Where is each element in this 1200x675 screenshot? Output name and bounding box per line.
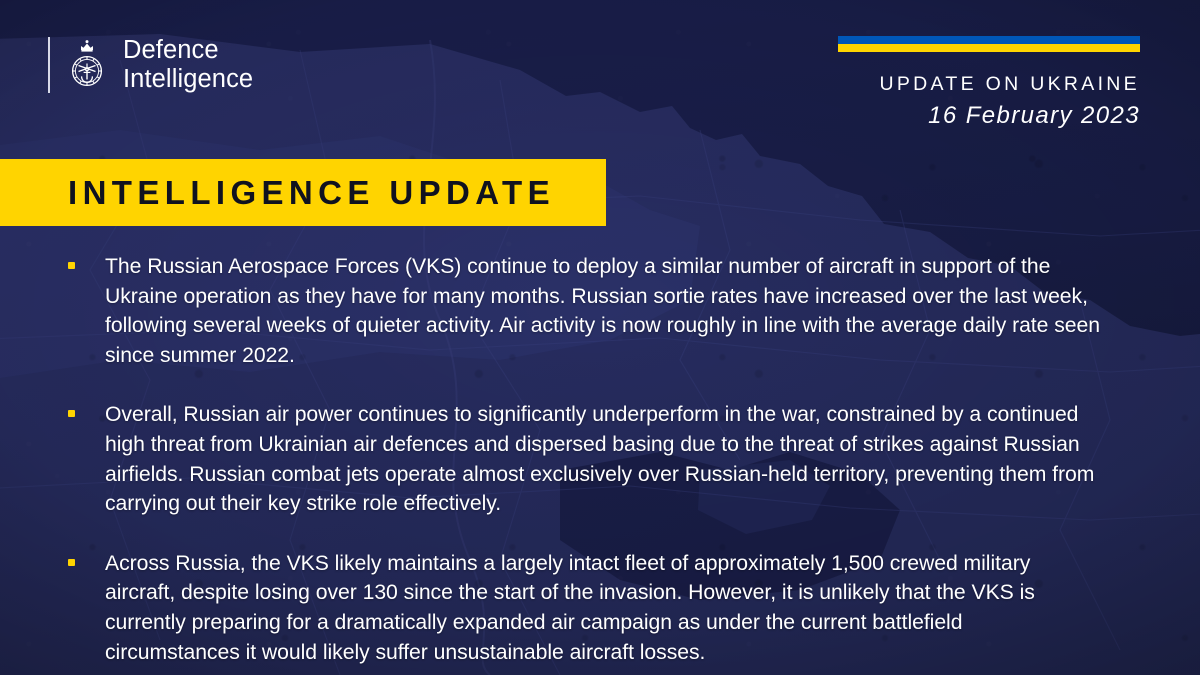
bullet-list: The Russian Aerospace Forces (VKS) conti…	[0, 252, 1100, 667]
list-item: Across Russia, the VKS likely maintains …	[0, 549, 1100, 667]
brand-lockup: Defence Intelligence	[48, 36, 253, 94]
intelligence-update-graphic: Defence Intelligence UPDATE ON UKRAINE 1…	[0, 0, 1200, 675]
update-date: 16 February 2023	[838, 102, 1140, 130]
flag-blue-stripe	[838, 36, 1140, 44]
banner-title: INTELLIGENCE UPDATE	[68, 174, 555, 212]
brand-line-1: Defence	[123, 36, 253, 65]
brand-divider-rule	[48, 37, 50, 93]
bullet-paragraph: The Russian Aerospace Forces (VKS) conti…	[105, 252, 1100, 370]
update-kicker: UPDATE ON UKRAINE	[838, 73, 1140, 96]
bullet-paragraph: Overall, Russian air power continues to …	[105, 400, 1100, 518]
brand-wordmark: Defence Intelligence	[123, 36, 253, 94]
square-bullet-icon	[68, 559, 75, 566]
royal-crown-wreath-crest-icon	[64, 37, 110, 93]
header-right-block: UPDATE ON UKRAINE 16 February 2023	[838, 36, 1140, 130]
square-bullet-icon	[68, 410, 75, 417]
intelligence-update-banner: INTELLIGENCE UPDATE	[0, 159, 606, 226]
list-item: Overall, Russian air power continues to …	[0, 400, 1100, 518]
square-bullet-icon	[68, 262, 75, 269]
bullet-paragraph: Across Russia, the VKS likely maintains …	[105, 549, 1100, 667]
brand-line-2: Intelligence	[123, 65, 253, 94]
list-item: The Russian Aerospace Forces (VKS) conti…	[0, 252, 1100, 370]
flag-yellow-stripe	[838, 44, 1140, 52]
ukraine-flag-bar-icon	[838, 36, 1140, 52]
